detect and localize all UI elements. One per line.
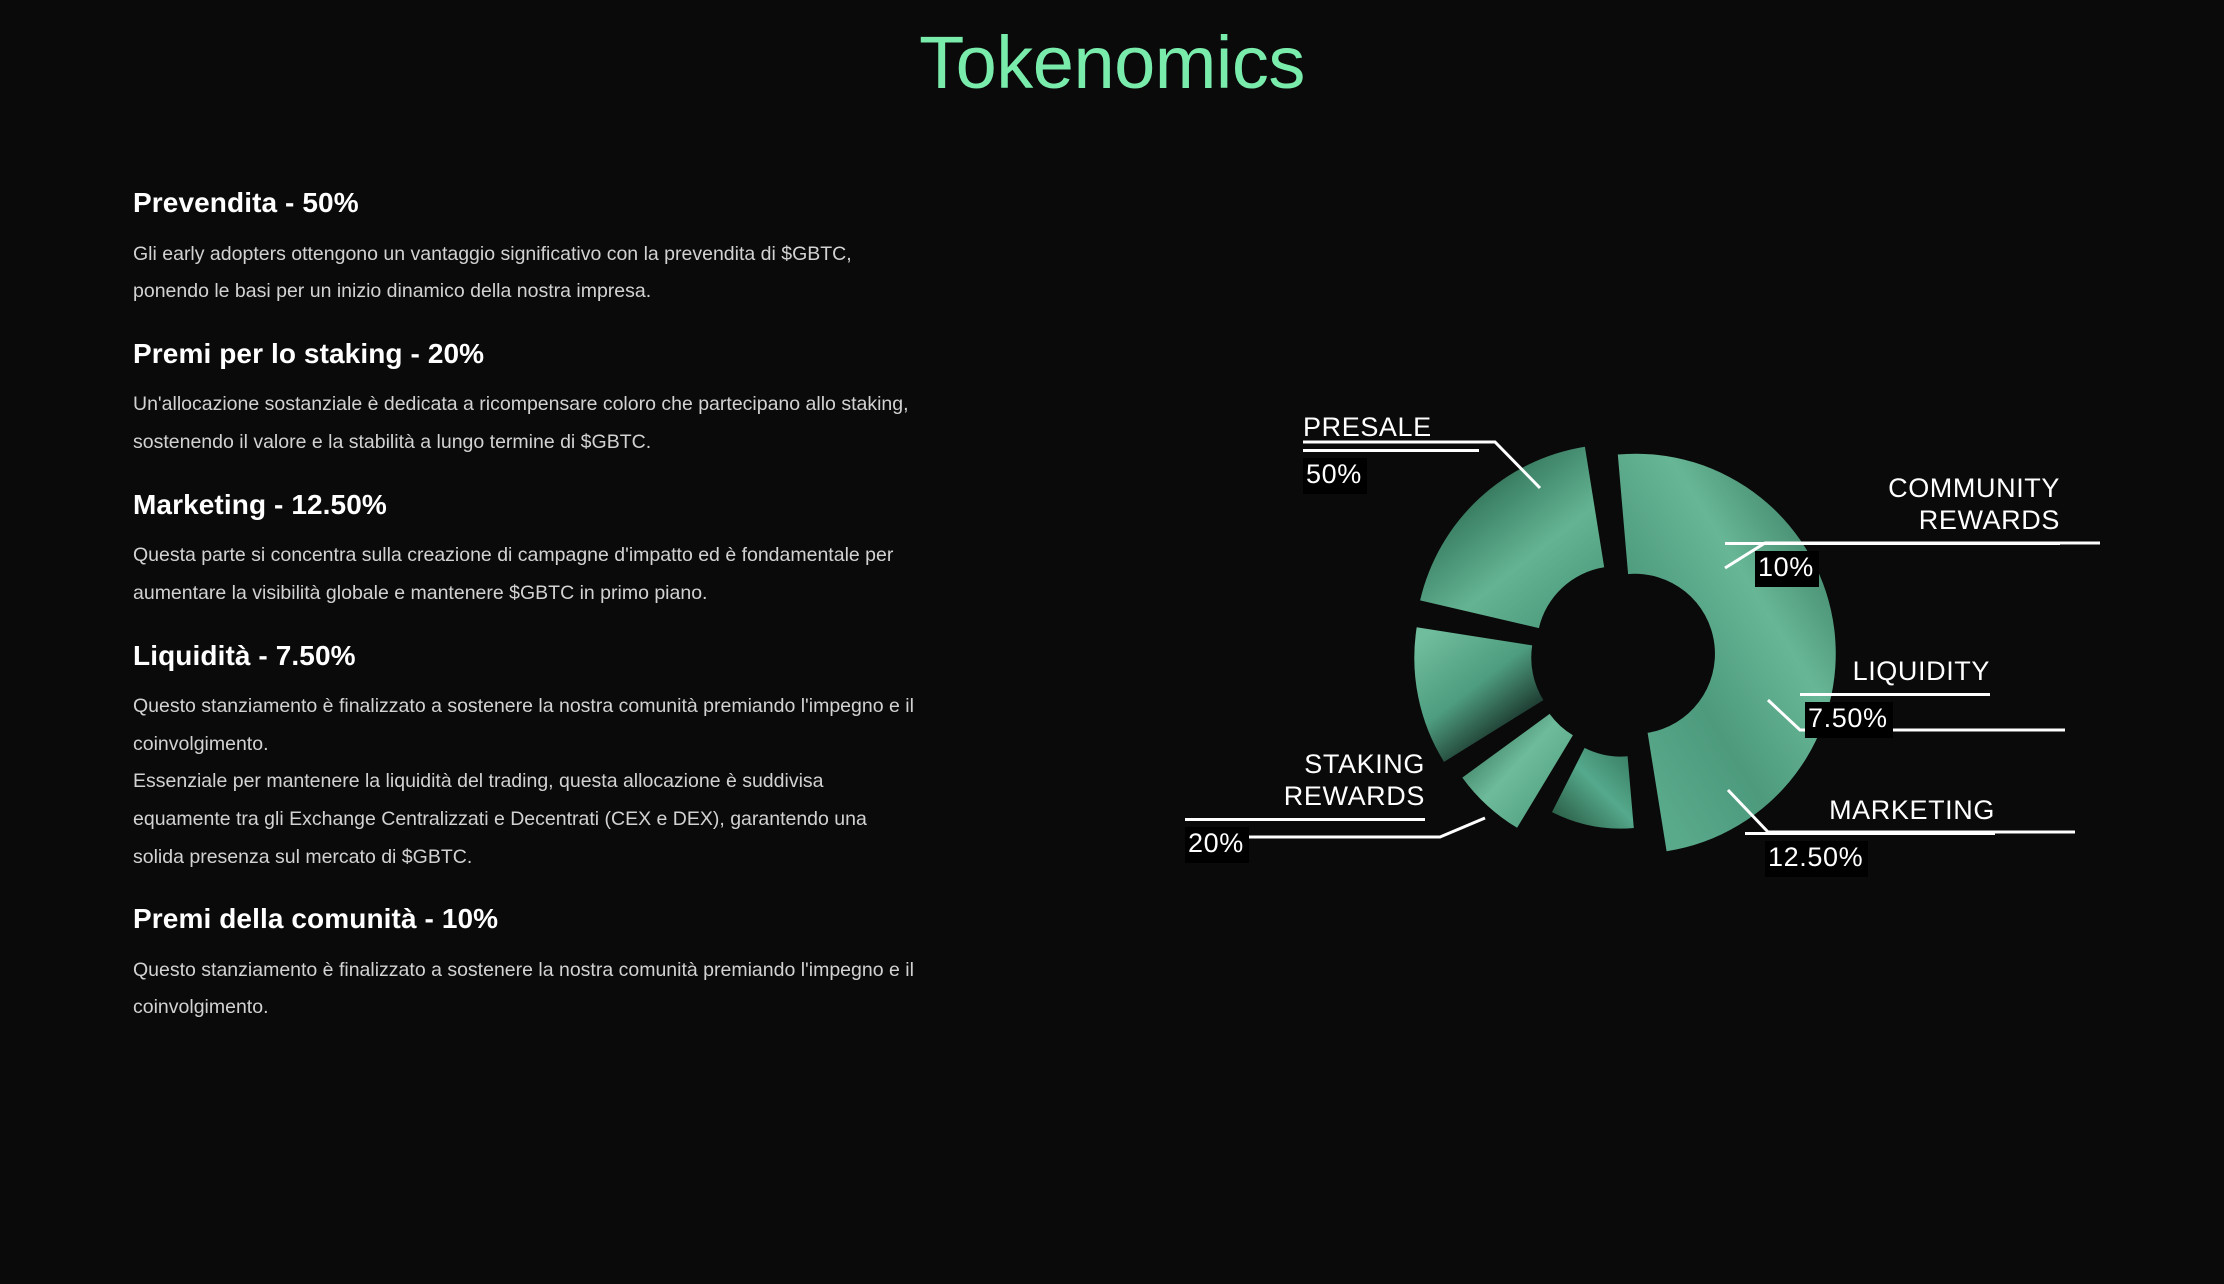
callout-label-liquidity: LIQUIDITY xyxy=(1825,656,1990,688)
callout-label-presale: PRESALE xyxy=(1303,412,1479,444)
callout-value-community-rewards: 10% xyxy=(1755,551,1819,587)
callout-rule xyxy=(1185,818,1425,821)
allocation-list: Prevendita - 50% Gli early adopters otte… xyxy=(133,186,923,1027)
tokenomics-page: Tokenomics Prevendita - 50% Gli early ad… xyxy=(0,0,2224,1284)
allocation-heading: Prevendita - 50% xyxy=(133,186,923,220)
allocation-heading: Premi per lo staking - 20% xyxy=(133,337,923,371)
allocation-heading: Marketing - 12.50% xyxy=(133,488,923,522)
callout-label-staking-line1: STAKING xyxy=(1185,749,1425,781)
allocation-item-community: Premi della comunità - 10% Questo stanzi… xyxy=(133,902,923,1027)
allocation-description-liquidity: Essenziale per mantenere la liquidità de… xyxy=(133,763,923,876)
page-title: Tokenomics xyxy=(0,22,2224,103)
callout-value-liquidity: 7.50% xyxy=(1805,702,1893,738)
callout-label-marketing: MARKETING xyxy=(1800,795,1995,827)
callout-label-staking-line2: REWARDS xyxy=(1185,781,1425,813)
callout-value-marketing: 12.50% xyxy=(1765,841,1868,877)
tokenomics-donut-chart xyxy=(1140,340,2180,960)
donut-center-hole xyxy=(1545,575,1705,735)
callout-label-community-line2: REWARDS xyxy=(1800,505,2060,537)
callout-rule xyxy=(1800,693,1990,696)
allocation-description: Questa parte si concentra sulla creazion… xyxy=(133,537,923,612)
chart-callout-liquidity: LIQUIDITY 7.50% xyxy=(1825,656,1990,738)
allocation-description: Questo stanziamento è finalizzato a sost… xyxy=(133,688,923,763)
allocation-heading: Liquidità - 7.50% xyxy=(133,639,923,673)
callout-rule xyxy=(1303,449,1479,452)
chart-callout-staking-rewards: STAKING REWARDS 20% xyxy=(1185,749,1425,863)
allocation-item-marketing: Marketing - 12.50% Questa parte si conce… xyxy=(133,488,923,613)
callout-value-staking-rewards: 20% xyxy=(1185,827,1249,863)
allocation-item-liquidity: Liquidità - 7.50% Questo stanziamento è … xyxy=(133,639,923,877)
callout-rule xyxy=(1725,542,2060,545)
chart-callout-community-rewards: COMMUNITY REWARDS 10% xyxy=(1800,473,2060,587)
allocation-item-presale: Prevendita - 50% Gli early adopters otte… xyxy=(133,186,923,311)
callout-value-presale: 50% xyxy=(1303,458,1367,494)
allocation-description: Questo stanziamento è finalizzato a sost… xyxy=(133,952,923,1027)
callout-label-community-line1: COMMUNITY xyxy=(1800,473,2060,505)
allocation-heading: Premi della comunità - 10% xyxy=(133,902,923,936)
chart-callout-presale: PRESALE 50% xyxy=(1303,412,1479,494)
pie-slice-community-rewards xyxy=(1552,748,1634,829)
callout-rule xyxy=(1745,832,1995,835)
allocation-description: Gli early adopters ottengono un vantaggi… xyxy=(133,236,923,311)
allocation-item-staking: Premi per lo staking - 20% Un'allocazion… xyxy=(133,337,923,462)
donut-chart-svg xyxy=(1140,340,2180,960)
allocation-description: Un'allocazione sostanziale è dedicata a … xyxy=(133,386,923,461)
chart-callout-marketing: MARKETING 12.50% xyxy=(1800,795,1995,877)
